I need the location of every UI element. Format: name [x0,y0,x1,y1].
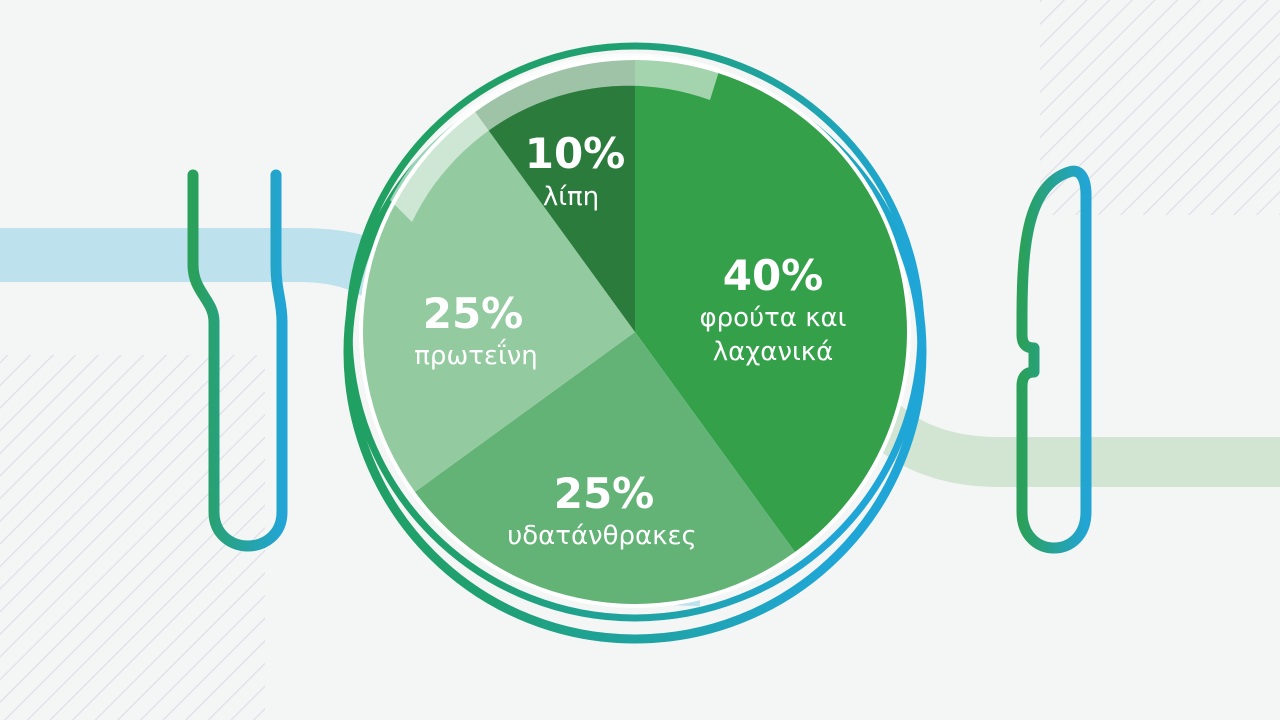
slice-label-fruits-vegetables-line2: λαχανικά [713,337,833,367]
slice-percent-fats: 10% [525,129,626,178]
infographic-canvas: 10% λίπη 40% φρούτα και λαχανικά 25% πρω… [0,0,1280,720]
slice-percent-carbohydrates: 25% [554,469,655,518]
slice-label-protein: πρωτεΐνη [414,338,537,371]
slice-percent-fruits-vegetables: 40% [723,251,824,300]
slice-label-fats: λίπη [543,182,599,212]
slice-label-carbohydrates: υδατάνθρακες [507,521,697,551]
slice-percent-protein: 25% [423,289,524,338]
pie-chart: 10% λίπη 40% φρούτα και λαχανικά 25% πρω… [0,0,1280,720]
slice-label-fruits-vegetables-line1: φρούτα και [700,303,847,333]
